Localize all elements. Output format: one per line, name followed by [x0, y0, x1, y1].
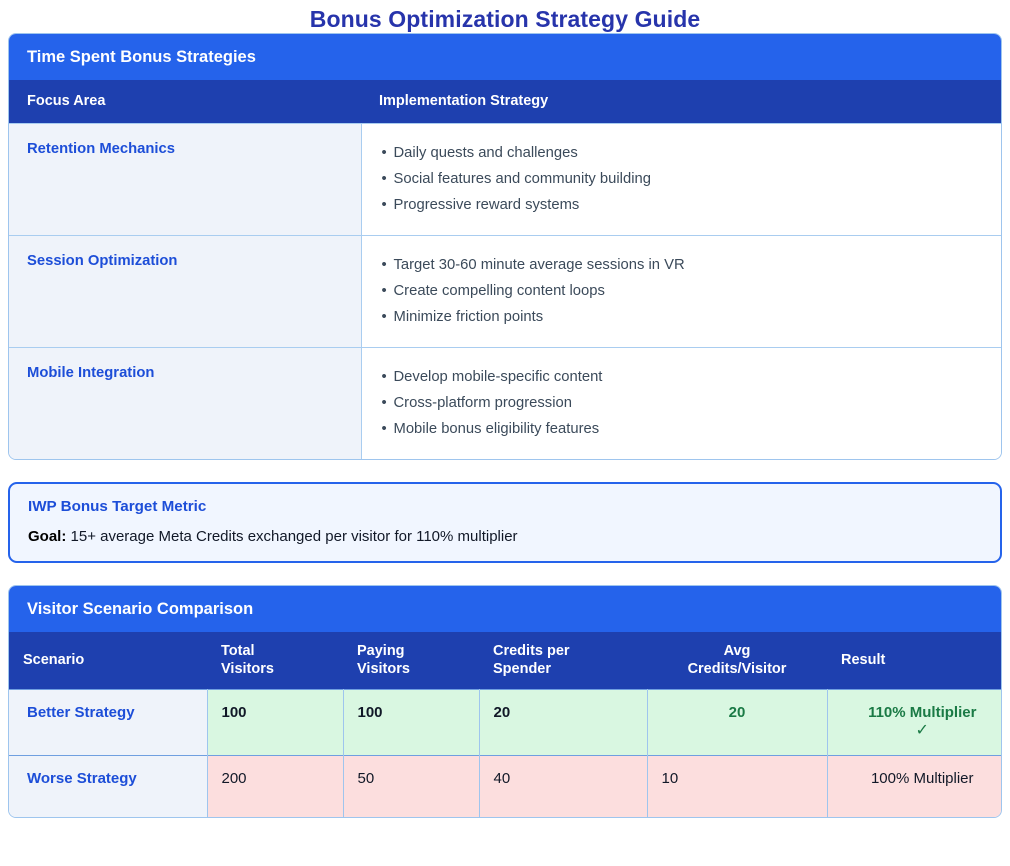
list-item: Mobile bonus eligibility features [382, 416, 1002, 442]
scenario-cell: Worse Strategy [9, 755, 207, 817]
credits-per-spender-cell: 20 [479, 689, 647, 755]
column-header-line: Credits/Visitor [647, 660, 827, 679]
result-cell: 110% Multiplier ✓ [827, 689, 1002, 755]
table-row: Retention Mechanics Daily quests and cha… [9, 123, 1001, 235]
implementation-list: Develop mobile-specific content Cross-pl… [382, 364, 1002, 443]
column-header-result: Result [827, 632, 1002, 690]
paying-visitors-cell: 50 [343, 755, 479, 817]
list-item: Create compelling content loops [382, 278, 1002, 304]
list-item: Social features and community building [382, 166, 1002, 192]
implementation-cell: Target 30-60 minute average sessions in … [361, 235, 1001, 347]
focus-area-cell: Retention Mechanics [9, 123, 361, 235]
strategy-table-card: Time Spent Bonus Strategies Focus Area I… [8, 33, 1002, 460]
strategy-table: Focus Area Implementation Strategy Reten… [9, 80, 1001, 459]
implementation-list: Daily quests and challenges Social featu… [382, 140, 1002, 219]
column-header-line: Result [841, 651, 1002, 670]
callout-title: IWP Bonus Target Metric [28, 498, 982, 515]
focus-area-cell: Mobile Integration [9, 347, 361, 458]
paying-visitors-cell: 100 [343, 689, 479, 755]
strategy-table-caption: Time Spent Bonus Strategies [9, 34, 1001, 80]
column-header-implementation-strategy: Implementation Strategy [361, 80, 1001, 123]
comparison-table-header-row: Scenario Total Visitors Paying Visitors … [9, 632, 1002, 690]
column-header-line: Credits per [493, 642, 647, 661]
credits-per-spender-cell: 40 [479, 755, 647, 817]
column-header-focus-area: Focus Area [9, 80, 361, 123]
column-header-credits-per-spender: Credits per Spender [479, 632, 647, 690]
page-title: Bonus Optimization Strategy Guide [0, 0, 1010, 33]
list-item: Cross-platform progression [382, 390, 1002, 416]
column-header-avg-credits-per-visitor: Avg Credits/Visitor [647, 632, 827, 690]
result-cell: 100% Multiplier [827, 755, 1002, 817]
implementation-list: Target 30-60 minute average sessions in … [382, 252, 1002, 331]
avg-credits-per-visitor-cell: 20 [647, 689, 827, 755]
column-header-line: Total [221, 642, 343, 661]
callout-goal-label: Goal: [28, 528, 66, 545]
column-header-line: Spender [493, 660, 647, 679]
list-item: Target 30-60 minute average sessions in … [382, 252, 1002, 278]
list-item: Progressive reward systems [382, 192, 1002, 218]
implementation-cell: Develop mobile-specific content Cross-pl… [361, 347, 1001, 458]
list-item: Develop mobile-specific content [382, 364, 1002, 390]
result-label: 110% Multiplier [868, 704, 976, 721]
callout-goal-text: 15+ average Meta Credits exchanged per v… [66, 528, 517, 545]
implementation-cell: Daily quests and challenges Social featu… [361, 123, 1001, 235]
column-header-line: Visitors [357, 660, 479, 679]
column-header-total-visitors: Total Visitors [207, 632, 343, 690]
table-row: Mobile Integration Develop mobile-specif… [9, 347, 1001, 458]
column-header-line: Avg [647, 642, 827, 661]
total-visitors-cell: 200 [207, 755, 343, 817]
column-header-line: Scenario [23, 651, 207, 670]
comparison-table-caption: Visitor Scenario Comparison [9, 586, 1001, 632]
avg-credits-per-visitor-cell: 10 [647, 755, 827, 817]
list-item: Daily quests and challenges [382, 140, 1002, 166]
total-visitors-cell: 100 [207, 689, 343, 755]
comparison-table-card: Visitor Scenario Comparison Scenario Tot… [8, 585, 1002, 819]
list-item: Minimize friction points [382, 304, 1002, 330]
strategy-table-header-row: Focus Area Implementation Strategy [9, 80, 1001, 123]
table-row: Session Optimization Target 30-60 minute… [9, 235, 1001, 347]
table-row: Better Strategy 100 100 20 20 110% Multi… [9, 689, 1002, 755]
callout-body: Goal: 15+ average Meta Credits exchanged… [28, 528, 982, 545]
comparison-table: Scenario Total Visitors Paying Visitors … [9, 632, 1002, 818]
table-row: Worse Strategy 200 50 40 10 100% Multipl… [9, 755, 1002, 817]
bonus-target-callout: IWP Bonus Target Metric Goal: 15+ averag… [8, 482, 1002, 563]
column-header-line: Paying [357, 642, 479, 661]
focus-area-cell: Session Optimization [9, 235, 361, 347]
column-header-scenario: Scenario [9, 632, 207, 690]
column-header-line: Visitors [221, 660, 343, 679]
scenario-cell: Better Strategy [9, 689, 207, 755]
column-header-paying-visitors: Paying Visitors [343, 632, 479, 690]
check-icon: ✓ [828, 721, 1003, 741]
result-label: 100% Multiplier [871, 770, 974, 787]
page-root: Bonus Optimization Strategy Guide Time S… [0, 0, 1010, 866]
